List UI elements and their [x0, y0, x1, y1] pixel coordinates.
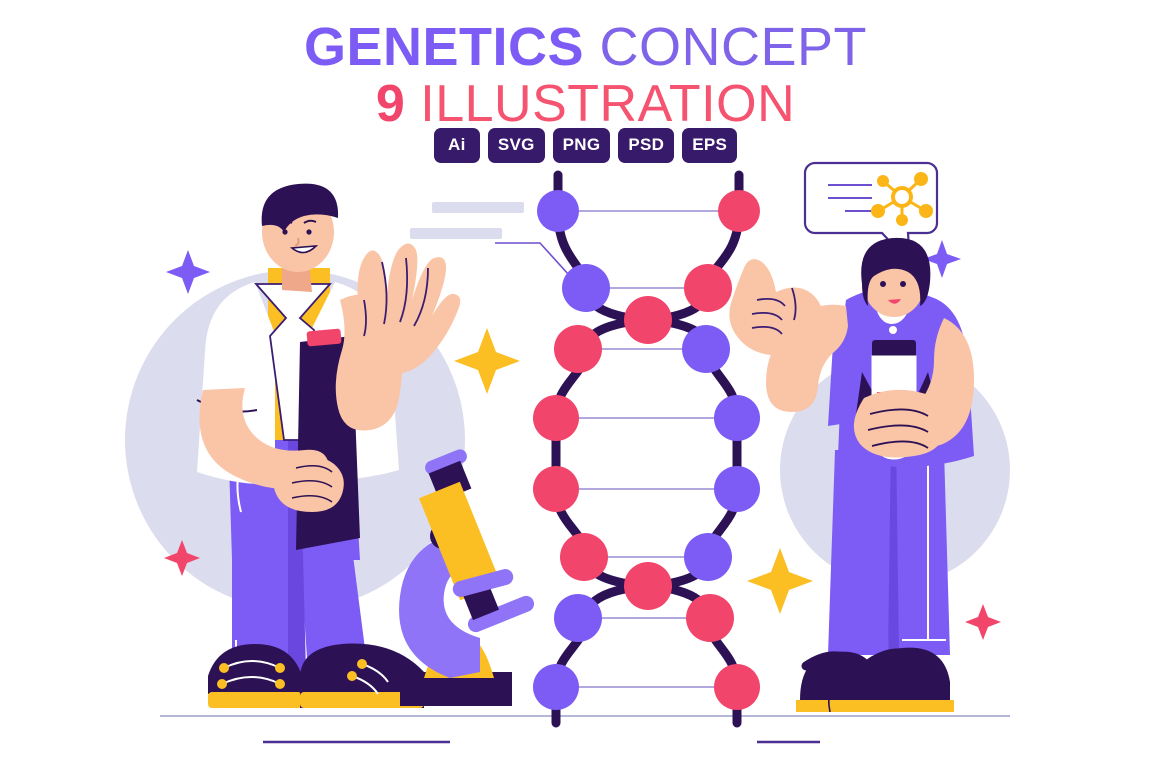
female-hand-grip	[854, 390, 946, 458]
illustration-canvas: GENETICS CONCEPT 9 ILLUSTRATION Ai SVG P…	[0, 0, 1171, 775]
female-button-1	[889, 326, 897, 334]
male-hand-wave	[357, 243, 460, 374]
sparkle-purple-left-top	[166, 250, 210, 294]
decor-bar-top	[432, 202, 524, 213]
dna-node	[554, 594, 602, 642]
thumbs-up-hand	[729, 259, 823, 355]
male-eye-right	[306, 229, 311, 234]
dna-helix	[533, 175, 760, 723]
sparkle-pink-right-bottom	[965, 604, 1001, 640]
dna-node	[714, 395, 760, 441]
dna-node-center	[624, 296, 672, 344]
genetics-scene	[0, 0, 1171, 775]
clipboard-clip	[306, 329, 341, 347]
dna-node	[533, 664, 579, 710]
decor-bar-bottom	[410, 228, 502, 239]
dna-node	[714, 466, 760, 512]
female-eye-left	[880, 281, 886, 287]
dna-node-center	[624, 562, 672, 610]
dna-strand-right	[648, 175, 739, 723]
dna-node	[684, 264, 732, 312]
male-eye-left	[282, 229, 287, 234]
sparkle-yellow-right	[747, 548, 813, 614]
female-scientist	[729, 238, 974, 712]
dna-node	[682, 325, 730, 373]
test-tube-cap	[872, 340, 916, 358]
dna-node	[554, 325, 602, 373]
dna-node	[537, 190, 579, 232]
dna-node	[560, 533, 608, 581]
dna-node	[714, 664, 760, 710]
dna-node	[533, 466, 579, 512]
dna-node	[684, 533, 732, 581]
dna-strand-left	[556, 175, 648, 723]
female-leg-left	[828, 450, 894, 655]
dna-node	[562, 264, 610, 312]
dna-nodes	[533, 190, 760, 710]
dna-node	[533, 395, 579, 441]
dna-node	[718, 190, 760, 232]
dna-node	[686, 594, 734, 642]
male-hand-left	[273, 456, 344, 512]
female-leg-right	[894, 450, 950, 655]
female-eye-right	[900, 281, 906, 287]
sparkle-yellow-center	[454, 328, 520, 394]
